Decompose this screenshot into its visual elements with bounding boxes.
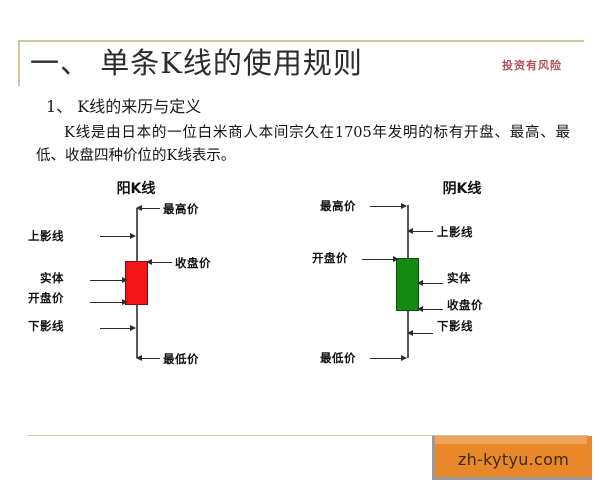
leader-lower-shadow-bullish	[100, 328, 130, 329]
diagram-title-bearish: 阴K线	[312, 178, 600, 198]
label-low-bullish: 最低价	[163, 351, 199, 367]
leader-high-bullish	[142, 208, 160, 209]
label-upper-shadow-bullish: 上影线	[28, 228, 64, 244]
leader-high-bearish	[370, 206, 401, 207]
watermark-text: zh-kytyu.com	[435, 450, 592, 469]
page-title: 一、 单条K线的使用规则	[30, 44, 363, 82]
risk-disclaimer-note: 投资有风险	[502, 57, 562, 73]
leader-open-bearish	[362, 259, 393, 260]
label-open-bullish: 开盘价	[28, 290, 64, 306]
leader-close-bearish	[423, 309, 443, 310]
label-lower-shadow-bullish: 下影线	[28, 318, 64, 334]
diagram-bullish-candle: 阳K线 最高价 上影线 收盘价 实体 开盘价 下影线 最低价	[0, 178, 300, 373]
watermark-stripe	[435, 436, 587, 444]
diagram-bearish-candle: 阴K线 最高价 上影线 开盘价 实体 收盘价 下影线 最低价	[300, 178, 600, 373]
lower-wick-bullish	[136, 305, 138, 358]
label-real-body-bearish: 实体	[447, 270, 471, 286]
candle-body-bullish	[125, 261, 148, 305]
label-lower-shadow-bearish: 下影线	[437, 318, 473, 334]
leader-low-bullish	[142, 358, 160, 359]
candle-body-bearish	[396, 258, 419, 311]
watermark-badge: zh-kytyu.com	[432, 436, 592, 480]
label-open-bearish: 开盘价	[312, 250, 348, 266]
upper-wick-bullish	[136, 208, 138, 261]
body-paragraph: K线是由日本的一位白米商人本间宗久在1705年发明的标有开盘、最高、最低、收盘四…	[36, 122, 570, 168]
title-border-top	[18, 40, 584, 42]
title-border-left	[18, 40, 20, 86]
label-high-bullish: 最高价	[163, 201, 199, 217]
label-upper-shadow-bearish: 上影线	[437, 224, 473, 240]
label-high-bearish: 最高价	[320, 198, 356, 214]
leader-close-bullish	[152, 262, 172, 263]
leader-real-body-bullish	[90, 280, 122, 281]
leader-open-bullish	[90, 302, 122, 303]
leader-lower-shadow-bearish	[413, 333, 433, 334]
label-close-bearish: 收盘价	[447, 297, 483, 313]
leader-low-bearish	[370, 358, 401, 359]
section-subheading: 1、 K线的来历与定义	[46, 93, 201, 117]
slide-canvas: 一、 单条K线的使用规则 投资有风险 1、 K线的来历与定义 K线是由日本的一位…	[0, 0, 600, 480]
leader-real-body-bearish	[423, 283, 443, 284]
label-close-bullish: 收盘价	[175, 255, 211, 271]
label-low-bearish: 最低价	[320, 350, 356, 366]
diagram-title-bullish: 阳K线	[0, 178, 286, 198]
label-real-body-bullish: 实体	[40, 270, 64, 286]
leader-upper-shadow-bullish	[100, 236, 130, 237]
leader-upper-shadow-bearish	[413, 231, 433, 232]
